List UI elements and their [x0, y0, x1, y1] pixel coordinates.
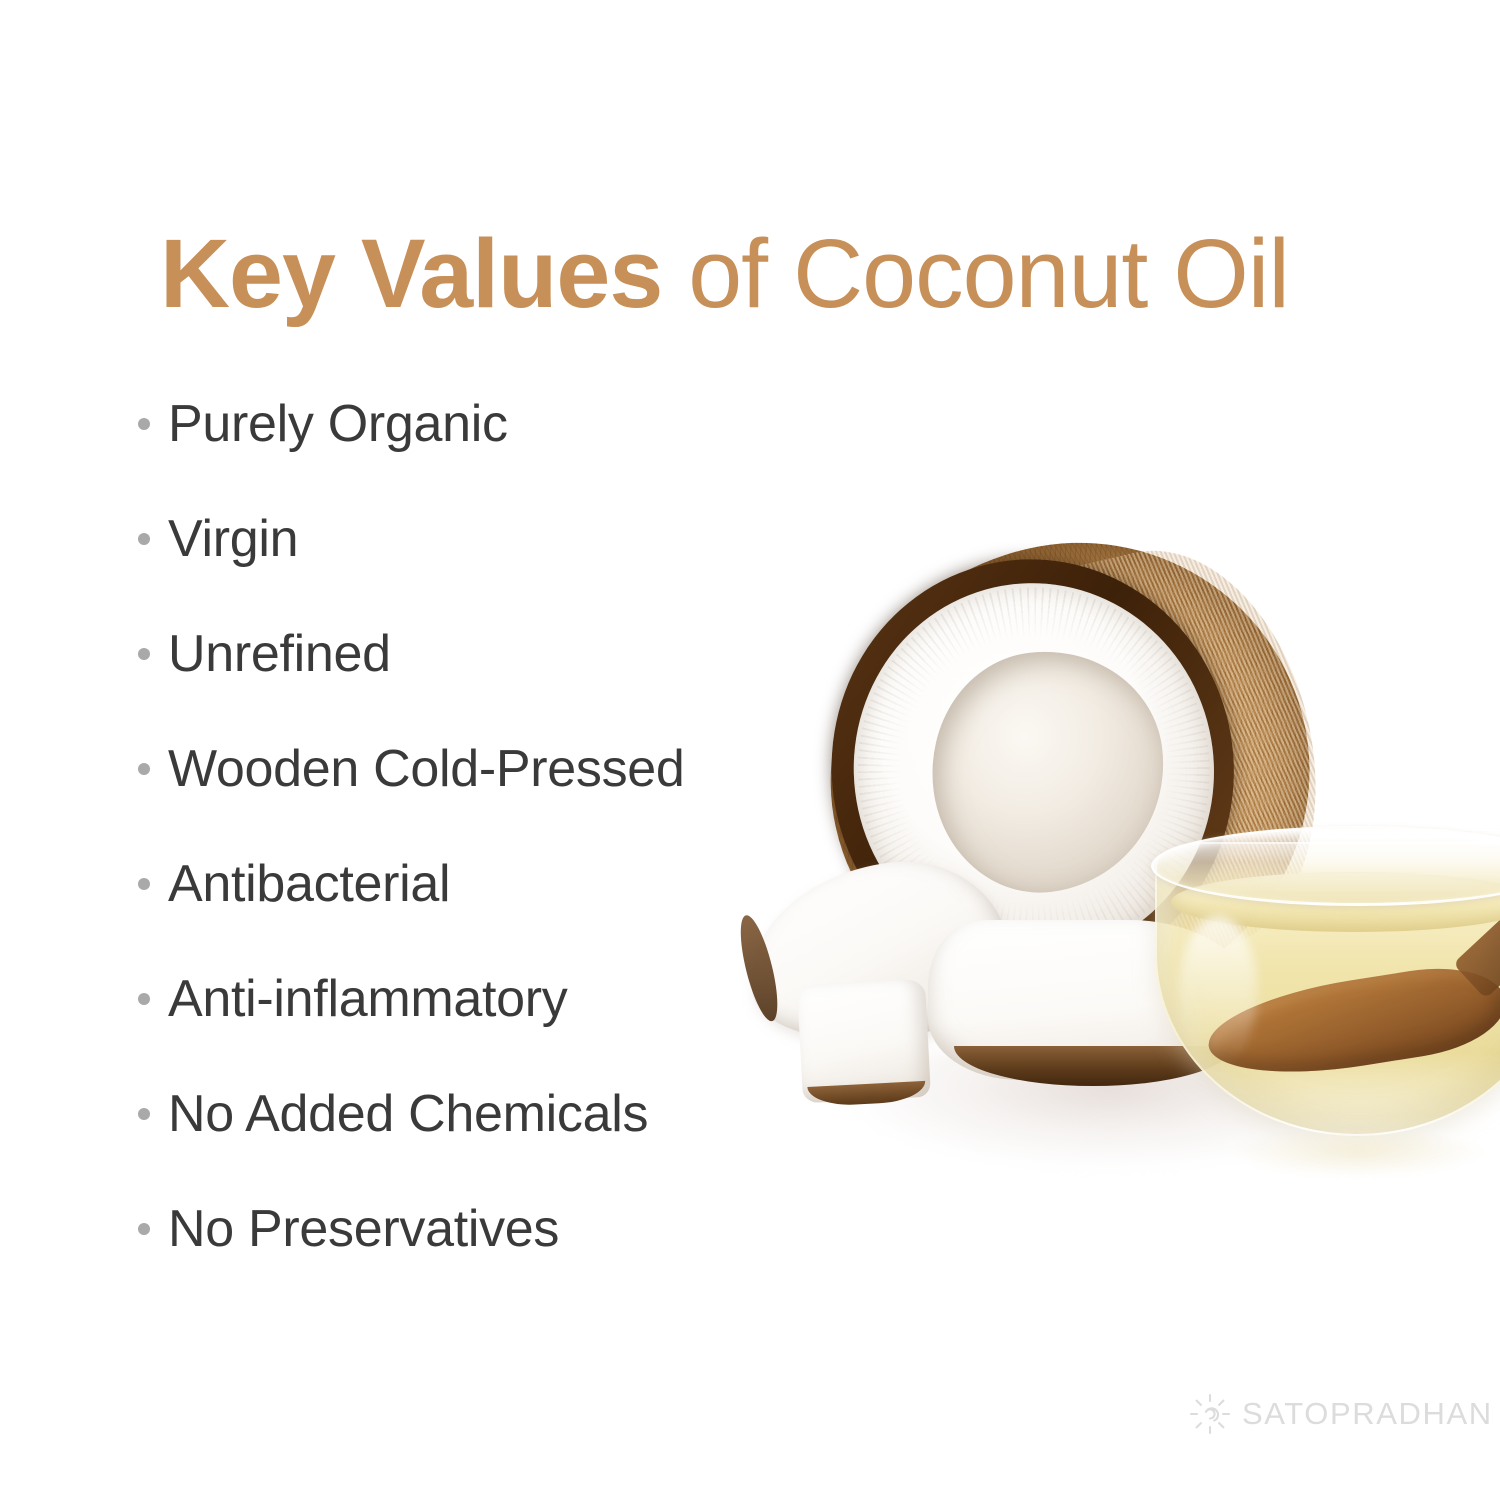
sun-spiral-icon: [1188, 1392, 1232, 1436]
list-item: Anti-inflammatory: [138, 941, 758, 1056]
page-title: Key Values of Coconut Oil: [160, 223, 1420, 325]
list-item: No Preservatives: [138, 1171, 758, 1286]
bullet-dot-icon: [138, 763, 150, 775]
list-item: Antibacterial: [138, 826, 758, 941]
list-item-label: No Preservatives: [168, 1199, 559, 1259]
list-item: Wooden Cold-Pressed: [138, 711, 758, 826]
bullet-dot-icon: [138, 648, 150, 660]
page-title-emphasis: Key Values: [160, 219, 662, 328]
list-item: No Added Chemicals: [138, 1056, 758, 1171]
list-item: Purely Organic: [138, 366, 758, 481]
coconut-oil-photo: [740, 520, 1500, 1280]
bowl-reflection: [1207, 1132, 1500, 1194]
list-item-label: Anti-inflammatory: [168, 969, 567, 1029]
list-item-label: No Added Chemicals: [168, 1084, 648, 1144]
list-item-label: Wooden Cold-Pressed: [168, 739, 685, 799]
bullet-dot-icon: [138, 418, 150, 430]
brand-watermark: SATOPRADHAN: [1188, 1392, 1493, 1436]
bullet-dot-icon: [138, 878, 150, 890]
bullet-dot-icon: [138, 533, 150, 545]
bowl-highlight: [1179, 916, 1257, 1066]
bullet-dot-icon: [138, 1223, 150, 1235]
page-title-remainder: of Coconut Oil: [662, 219, 1289, 328]
key-values-list: Purely Organic Virgin Unrefined Wooden C…: [138, 366, 758, 1286]
list-item-label: Virgin: [168, 509, 298, 569]
coconut-cavity: [918, 638, 1178, 904]
list-item-label: Unrefined: [168, 624, 391, 684]
brand-name: SATOPRADHAN: [1242, 1396, 1493, 1432]
list-item-label: Antibacterial: [168, 854, 450, 914]
bullet-dot-icon: [138, 1108, 150, 1120]
list-item: Unrefined: [138, 596, 758, 711]
list-item-label: Purely Organic: [168, 394, 508, 454]
bullet-dot-icon: [138, 993, 150, 1005]
list-item: Virgin: [138, 481, 758, 596]
coconut-chunk-cube: [797, 979, 931, 1104]
oil-bowl-image: [1155, 820, 1500, 1150]
